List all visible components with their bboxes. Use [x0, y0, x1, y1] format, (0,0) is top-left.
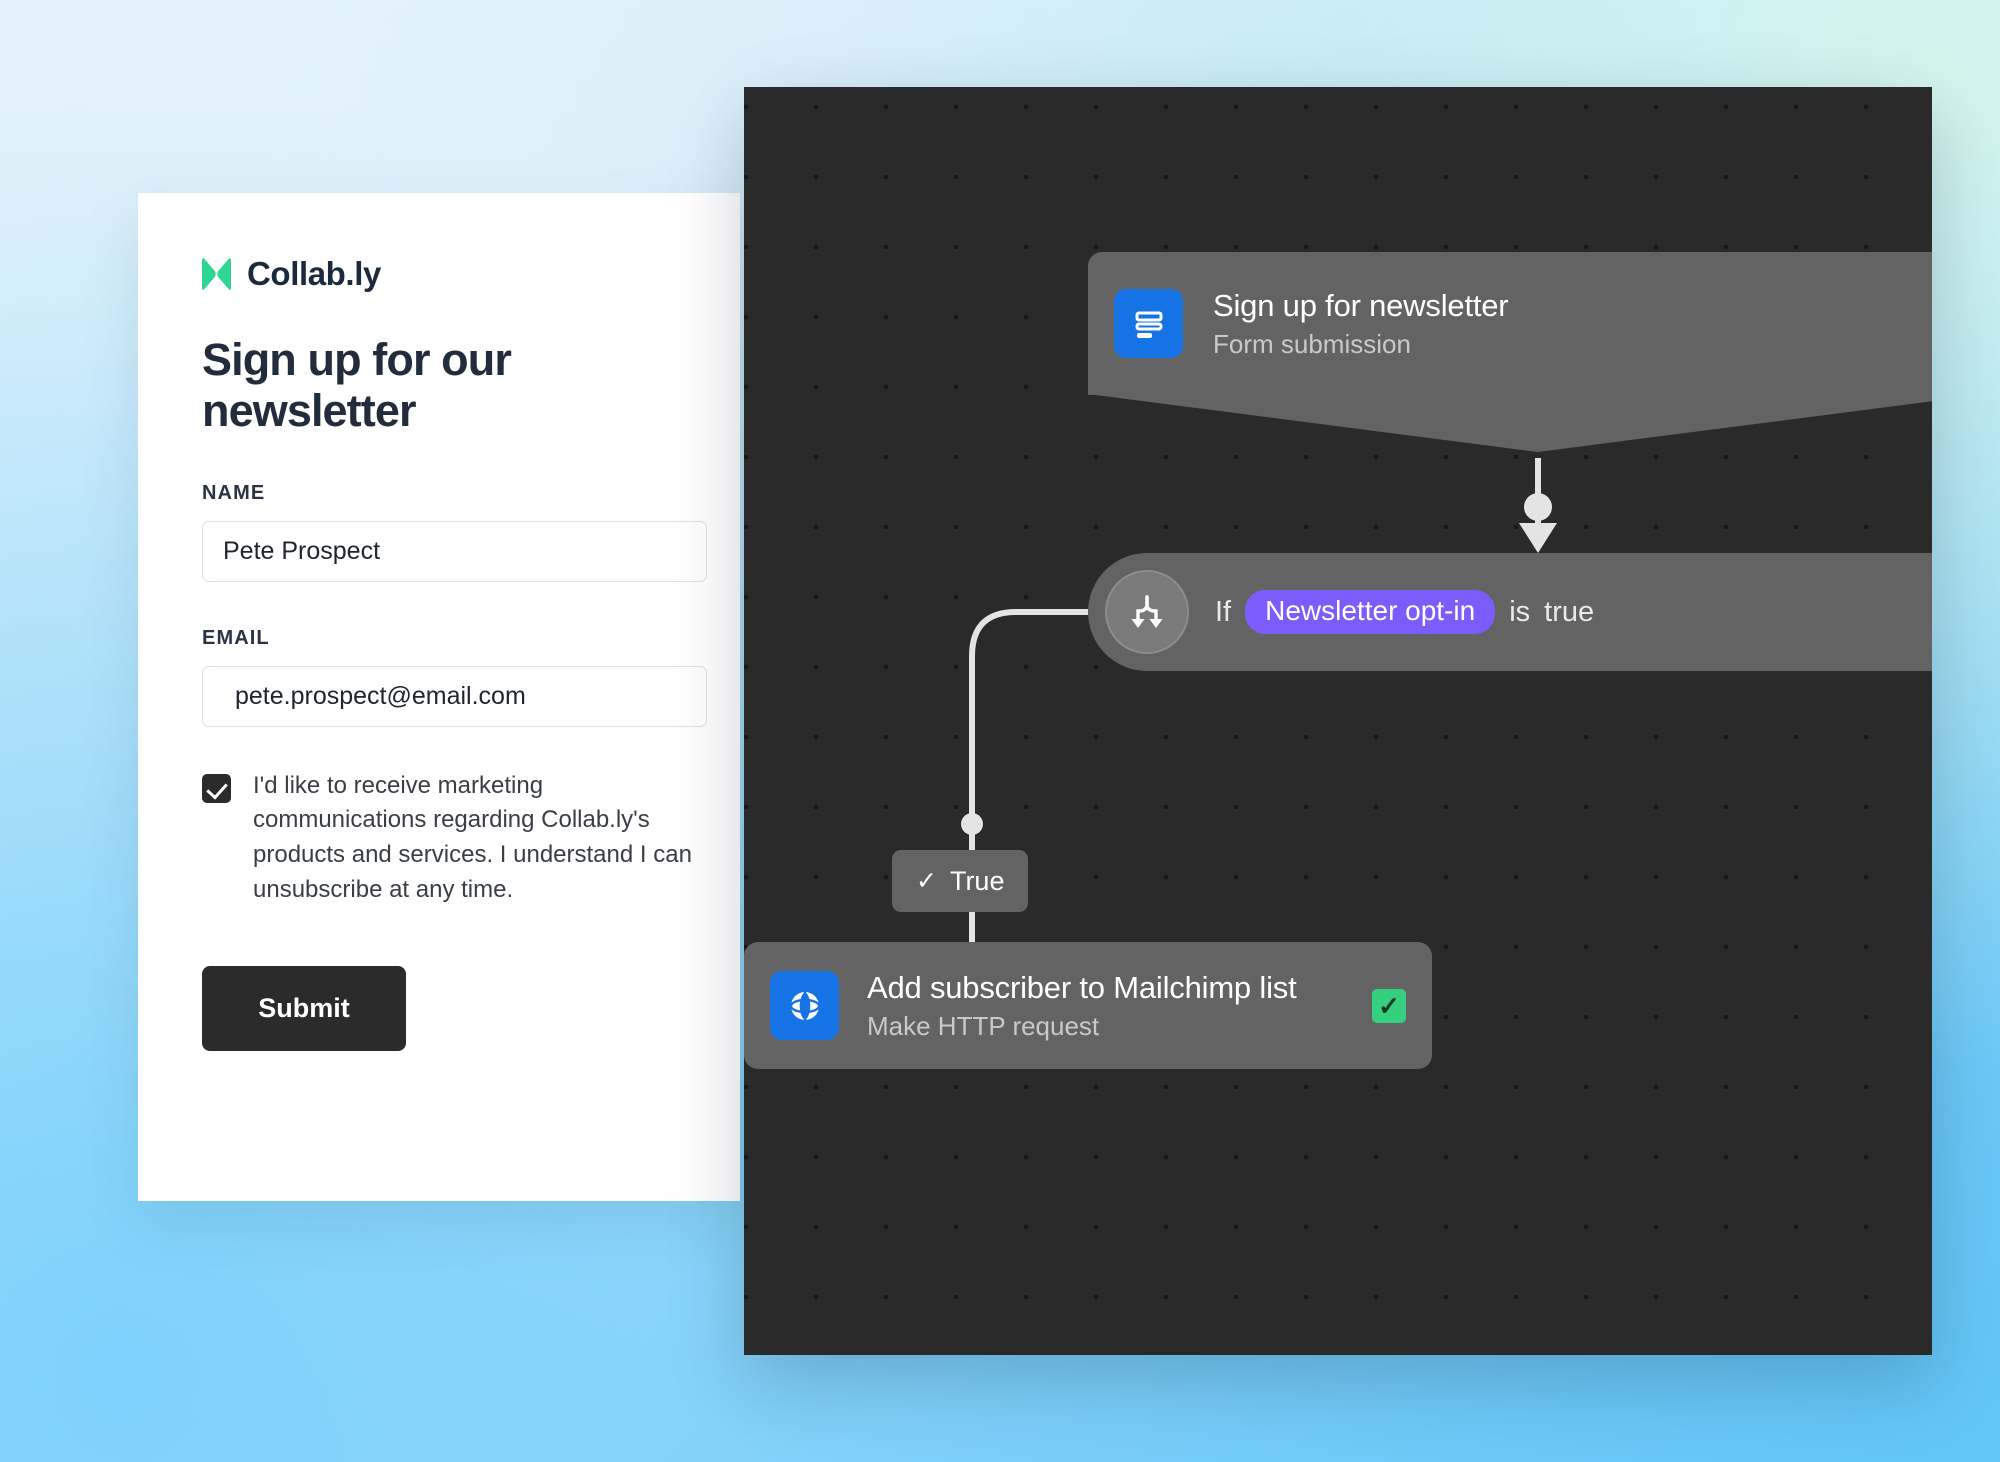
name-field-label: NAME [202, 482, 740, 505]
branch-label-text: True [950, 866, 1005, 897]
signup-card: Collab.ly Sign up for our newsletter NAM… [138, 193, 740, 1201]
branch-label-true[interactable]: ✓ True [892, 850, 1028, 912]
trigger-node-text: Sign up for newsletter Form submission [1213, 288, 1508, 360]
email-input[interactable] [202, 666, 707, 727]
action-node-subtitle: Make HTTP request [867, 1011, 1296, 1042]
consent-checkbox[interactable] [202, 774, 231, 803]
condition-variable-chip[interactable]: Newsletter opt-in [1245, 590, 1495, 634]
trigger-node-title: Sign up for newsletter [1213, 288, 1508, 324]
check-badge-icon: ✓ [1372, 989, 1406, 1023]
consent-row[interactable]: I'd like to receive marketing communicat… [202, 769, 707, 908]
name-field-group: NAME [202, 482, 740, 582]
app-screenshot: Collab.ly Sign up for our newsletter NAM… [0, 0, 2000, 1462]
brand-lockup: Collab.ly [202, 255, 740, 293]
condition-operand: true [1544, 596, 1594, 629]
submit-button[interactable]: Submit [202, 966, 406, 1051]
name-input[interactable] [202, 521, 707, 582]
branch-icon [1105, 570, 1189, 654]
condition-operator: is [1509, 596, 1530, 629]
consent-label: I'd like to receive marketing communicat… [253, 769, 693, 908]
workflow-node-condition[interactable]: If Newsletter opt-in is true [1088, 553, 1932, 671]
trigger-node-chevron-tail [1088, 394, 1932, 458]
workflow-node-action[interactable]: Add subscriber to Mailchimp list Make HT… [744, 942, 1432, 1069]
workflow-canvas[interactable]: Sign up for newsletter Form submission I… [744, 87, 1932, 1355]
globe-icon [770, 971, 839, 1040]
condition-prefix: If [1215, 596, 1231, 629]
email-field-group: EMAIL [202, 627, 740, 727]
bowtie-logo-icon [202, 258, 231, 290]
trigger-node-subtitle: Form submission [1213, 329, 1508, 360]
condition-expression: If Newsletter opt-in is true [1215, 590, 1594, 634]
page-title: Sign up for our newsletter [202, 335, 602, 437]
check-icon: ✓ [916, 869, 937, 894]
workflow-node-trigger[interactable]: Sign up for newsletter Form submission [1088, 252, 1932, 395]
action-node-text: Add subscriber to Mailchimp list Make HT… [867, 970, 1296, 1042]
brand-name: Collab.ly [247, 255, 381, 293]
form-icon [1114, 289, 1183, 358]
email-field-label: EMAIL [202, 627, 740, 650]
action-node-title: Add subscriber to Mailchimp list [867, 970, 1296, 1006]
signup-card-body: Collab.ly Sign up for our newsletter NAM… [138, 193, 740, 1051]
